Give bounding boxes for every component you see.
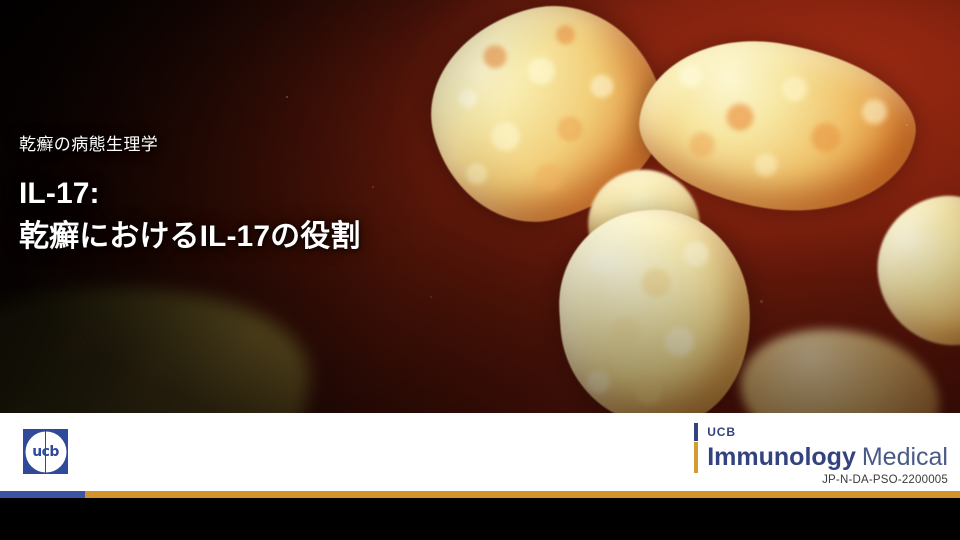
antibody-fab-arm-right <box>629 24 926 230</box>
brand-gold-rule-icon <box>694 442 698 473</box>
footer-bar: ucb UCB ImmunologyMedical JP-N-DA-PSO-22… <box>0 413 960 491</box>
dust-speck <box>84 342 86 344</box>
antibody-fc-stem-texture <box>553 204 758 413</box>
dust-speck <box>812 62 814 64</box>
slide-title-block: 乾癬の病態生理学 IL-17: 乾癬におけるIL-17の役割 <box>19 134 489 258</box>
brand-navy-rule-icon <box>694 423 698 441</box>
slide-eyebrow: 乾癬の病態生理学 <box>19 134 489 157</box>
letterbox-bottom <box>0 498 960 540</box>
brand-title-bold: Immunology <box>707 443 856 471</box>
brand-lockup: UCB ImmunologyMedical JP-N-DA-PSO-220000… <box>694 423 948 486</box>
foreground-blurred-molecule <box>0 270 319 413</box>
video-stage: 乾癬の病態生理学 IL-17: 乾癬におけるIL-17の役割 <box>0 0 960 413</box>
progress-bar[interactable] <box>0 491 960 498</box>
antibody-fc-stem <box>553 204 758 413</box>
video-slide: 乾癬の病態生理学 IL-17: 乾癬におけるIL-17の役割 ucb UCB I… <box>0 0 960 540</box>
brand-eyebrow-label: UCB <box>707 423 736 441</box>
progress-bar-fill[interactable] <box>0 491 85 498</box>
dust-speck <box>430 296 432 298</box>
slide-title-line-1: IL-17: <box>19 173 489 216</box>
page-title: IL-17: 乾癬におけるIL-17の役割 <box>19 173 489 258</box>
ucb-logo-icon: ucb <box>23 429 68 474</box>
brand-title-regular: Medical <box>862 443 948 471</box>
brand-title-row: ImmunologyMedical <box>694 442 948 473</box>
antibody-hinge-region <box>570 151 719 299</box>
approval-code: JP-N-DA-PSO-2200005 <box>694 474 948 486</box>
molecule-background-blob <box>729 311 952 413</box>
dust-speck <box>906 124 908 126</box>
dust-speck <box>286 96 288 98</box>
brand-title: ImmunologyMedical <box>707 442 948 473</box>
antibody-fab-arm-right-texture <box>629 24 926 230</box>
ucb-logo-wordmark: ucb <box>23 445 68 459</box>
brand-eyebrow-row: UCB <box>694 423 948 441</box>
slide-title-line-2: 乾癬におけるIL-17の役割 <box>19 216 489 259</box>
dust-speck <box>760 300 763 303</box>
molecule-edge-fragment <box>868 187 960 355</box>
